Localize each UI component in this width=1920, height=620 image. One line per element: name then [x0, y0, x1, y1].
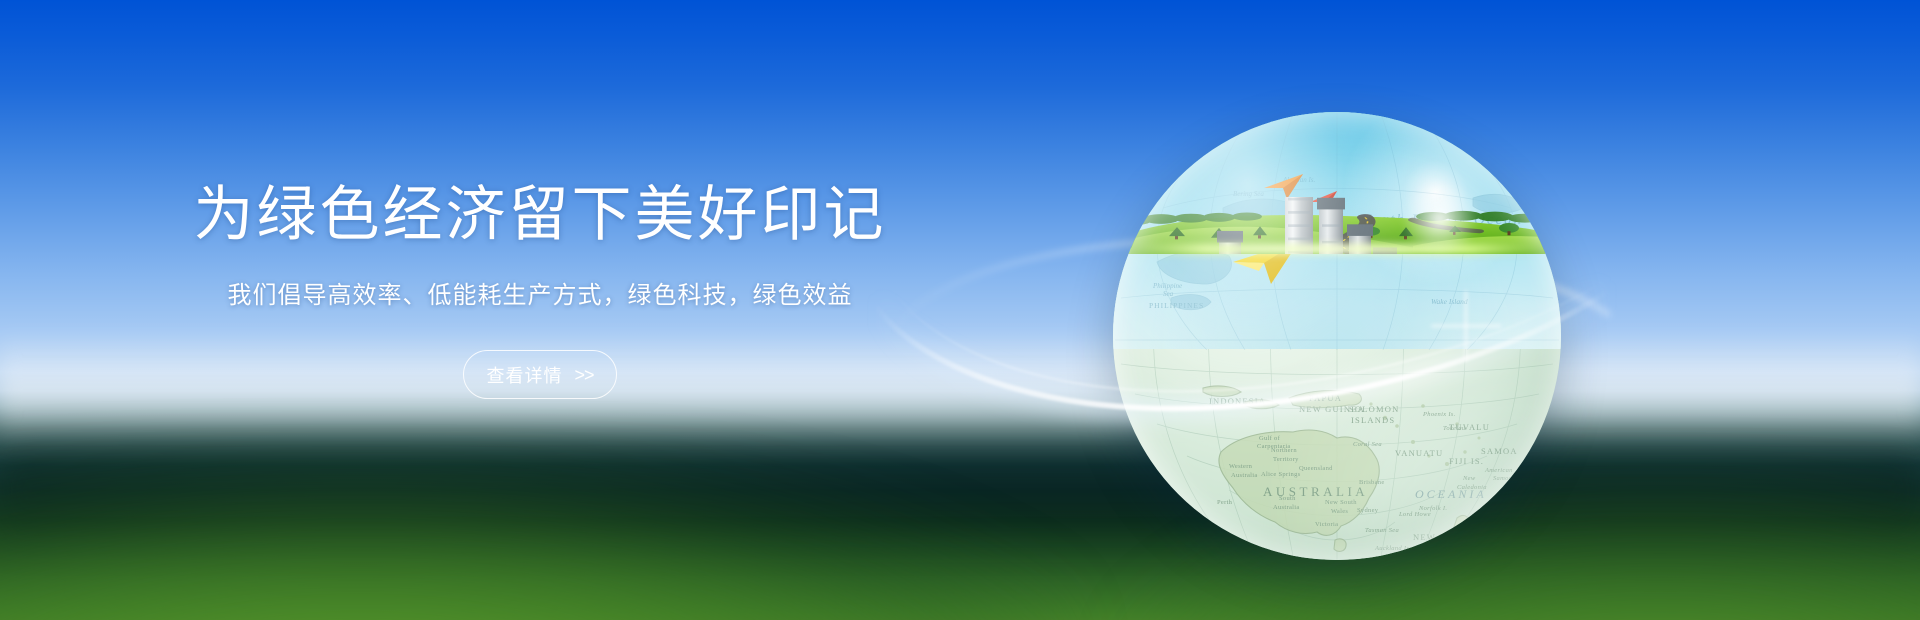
svg-text:Caledonia: Caledonia	[1457, 484, 1487, 491]
svg-text:SAMOA: SAMOA	[1481, 446, 1518, 456]
svg-text:FIJI IS.: FIJI IS.	[1449, 456, 1484, 466]
svg-text:Tokelau: Tokelau	[1443, 425, 1466, 432]
svg-text:New: New	[1462, 475, 1476, 482]
svg-text:Gulf of: Gulf of	[1259, 435, 1281, 442]
svg-text:Wake Island: Wake Island	[1431, 297, 1468, 306]
grass-glow-left	[0, 450, 1080, 620]
svg-text:Wales: Wales	[1331, 508, 1348, 515]
svg-text:INDONESIA: INDONESIA	[1209, 396, 1266, 406]
view-details-label: 查看详情	[486, 362, 562, 388]
svg-text:Sea: Sea	[1163, 290, 1174, 298]
svg-text:Philippine: Philippine	[1152, 282, 1182, 290]
city-skyline-svg	[1113, 197, 1561, 254]
svg-text:VANUATU: VANUATU	[1395, 448, 1443, 458]
svg-text:Norfolk I.: Norfolk I.	[1418, 505, 1447, 512]
svg-text:Australia: Australia	[1273, 504, 1300, 511]
chevron-right-double-icon: >>	[574, 366, 593, 384]
paper-plane-orange-icon	[1263, 172, 1305, 200]
svg-text:Brisbane: Brisbane	[1359, 479, 1385, 486]
globe-sphere: AUSTRALIA OCEANIA SOLOMON ISLANDS PAPUA …	[1113, 112, 1561, 560]
svg-text:Macquarie I.: Macquarie I.	[1408, 551, 1447, 558]
view-details-button[interactable]: 查看详情 >>	[463, 350, 616, 399]
svg-text:Perth: Perth	[1217, 499, 1233, 506]
svg-text:South: South	[1279, 495, 1296, 502]
svg-text:ISLANDS: ISLANDS	[1351, 415, 1395, 425]
svg-text:Samoa: Samoa	[1493, 475, 1512, 482]
svg-text:PHILIPPINES: PHILIPPINES	[1149, 301, 1204, 310]
svg-text:Territory: Territory	[1273, 456, 1299, 463]
banner-subtitle: 我们倡导高效率、低能耗生产方式，绿色科技，绿色效益	[0, 275, 1080, 310]
svg-text:PAPUA: PAPUA	[1309, 393, 1342, 403]
page-title: 为绿色经济留下美好印记	[0, 180, 1080, 249]
svg-text:New South: New South	[1325, 499, 1357, 506]
cta-container: 查看详情 >>	[0, 350, 1080, 399]
svg-text:NEW GUINEA: NEW GUINEA	[1299, 404, 1365, 414]
svg-text:Alice Springs: Alice Springs	[1261, 471, 1301, 478]
svg-text:NEW ZEALAND: NEW ZEALAND	[1413, 532, 1488, 542]
svg-text:Coral Sea: Coral Sea	[1353, 441, 1382, 448]
svg-text:Auckland Is.: Auckland Is.	[1374, 545, 1411, 552]
svg-text:Victoria: Victoria	[1315, 521, 1338, 528]
svg-text:Queensland: Queensland	[1299, 465, 1333, 472]
svg-text:Sydney: Sydney	[1357, 507, 1379, 514]
svg-text:Western: Western	[1229, 463, 1253, 470]
svg-text:Tasman Sea: Tasman Sea	[1365, 527, 1399, 534]
svg-text:Phoenix Is.: Phoenix Is.	[1422, 411, 1456, 418]
horizon-dark-band	[0, 430, 1920, 550]
banner-copy: 为绿色经济留下美好印记 我们倡导高效率、低能耗生产方式，绿色科技，绿色效益 查看…	[0, 180, 1080, 399]
svg-text:American: American	[1484, 467, 1513, 474]
globe-illustration: AUSTRALIA OCEANIA SOLOMON ISLANDS PAPUA …	[1113, 112, 1561, 560]
hero-banner: AUSTRALIA OCEANIA SOLOMON ISLANDS PAPUA …	[0, 0, 1920, 620]
svg-text:Australia: Australia	[1231, 472, 1258, 479]
globe-sky-hemisphere: North Pacific Ocean Wake Island PHILIPPI…	[1113, 112, 1561, 349]
svg-text:Carpentaria: Carpentaria	[1257, 443, 1291, 450]
green-landscape	[1113, 197, 1561, 254]
svg-text:Lord Howe: Lord Howe	[1398, 511, 1431, 518]
